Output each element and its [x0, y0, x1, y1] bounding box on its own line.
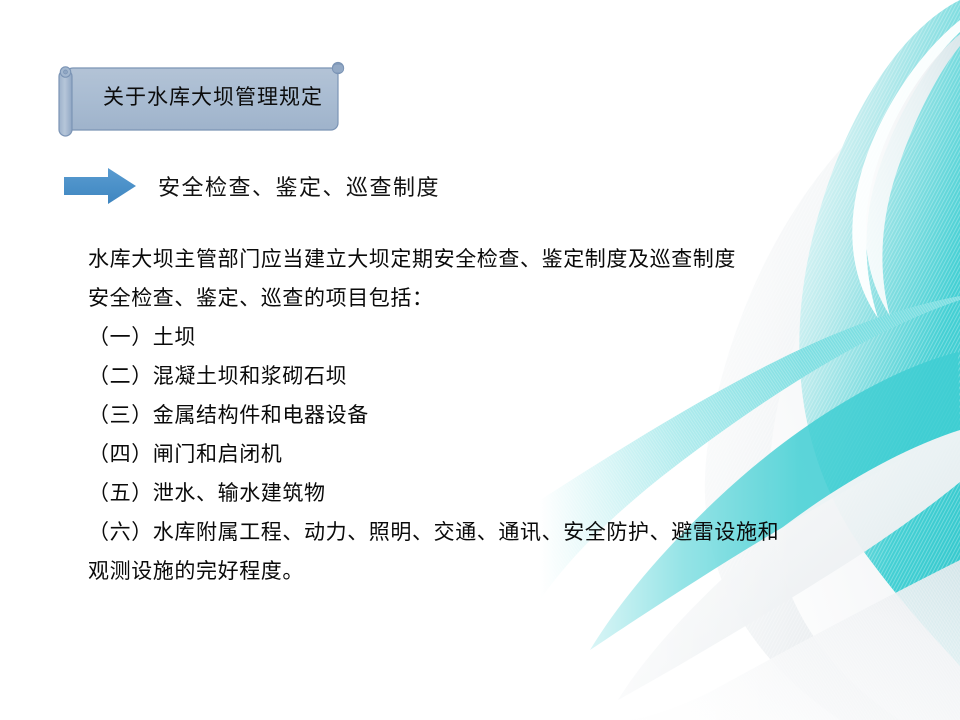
slide-canvas: 关于水库大坝管理规定 安全检查、鉴定、巡查制度 水库大坝主管部门应当建立大坝定期… [0, 0, 960, 720]
body-line: （六）水库附属工程、动力、照明、交通、通讯、安全防护、避雷设施和 [88, 513, 888, 552]
body-line: （三）金属结构件和电器设备 [88, 396, 888, 435]
body-text-block: 水库大坝主管部门应当建立大坝定期安全检查、鉴定制度及巡查制度 安全检查、鉴定、巡… [88, 240, 888, 591]
body-line: 安全检查、鉴定、巡查的项目包括： [88, 279, 888, 318]
subtitle-text: 安全检查、鉴定、巡查制度 [158, 170, 440, 202]
title-banner: 关于水库大坝管理规定 [52, 60, 352, 138]
body-line: （二）混凝土坝和浆砌石坝 [88, 357, 888, 396]
right-arrow-icon [64, 166, 136, 206]
body-line: 水库大坝主管部门应当建立大坝定期安全检查、鉴定制度及巡查制度 [88, 240, 888, 279]
body-line: （一）土坝 [88, 318, 888, 357]
page-title: 关于水库大坝管理规定 [82, 60, 344, 132]
body-line: （四）闸门和启闭机 [88, 435, 888, 474]
subtitle-row: 安全检查、鉴定、巡查制度 [64, 166, 440, 206]
body-line: （五）泄水、输水建筑物 [88, 474, 888, 513]
body-line: 观测设施的完好程度。 [88, 552, 888, 591]
